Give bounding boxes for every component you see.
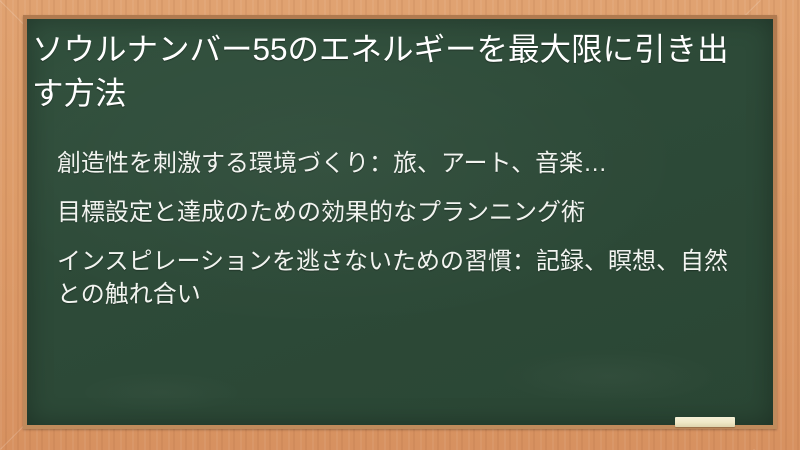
chalkboard-surface: ソウルナンバー55のエネルギーを最大限に引き出す方法 創造性を刺激する環境づくり… bbox=[27, 19, 773, 425]
chalkboard-slide: ソウルナンバー55のエネルギーを最大限に引き出す方法 創造性を刺激する環境づくり… bbox=[0, 0, 800, 450]
chalk-stick-icon bbox=[675, 417, 735, 427]
slide-title: ソウルナンバー55のエネルギーを最大限に引き出す方法 bbox=[32, 27, 748, 115]
bullet-item: 目標設定と達成のための効果的なプランニング術 bbox=[57, 196, 747, 229]
bullet-item: 創造性を刺激する環境づくり：旅、アート、音楽… bbox=[57, 147, 747, 180]
bullet-item: インスピレーションを逃さないための習慣：記録、瞑想、自然との触れ合い bbox=[57, 245, 747, 311]
bullet-list: 創造性を刺激する環境づくり：旅、アート、音楽… 目標設定と達成のための効果的なプ… bbox=[57, 147, 747, 311]
